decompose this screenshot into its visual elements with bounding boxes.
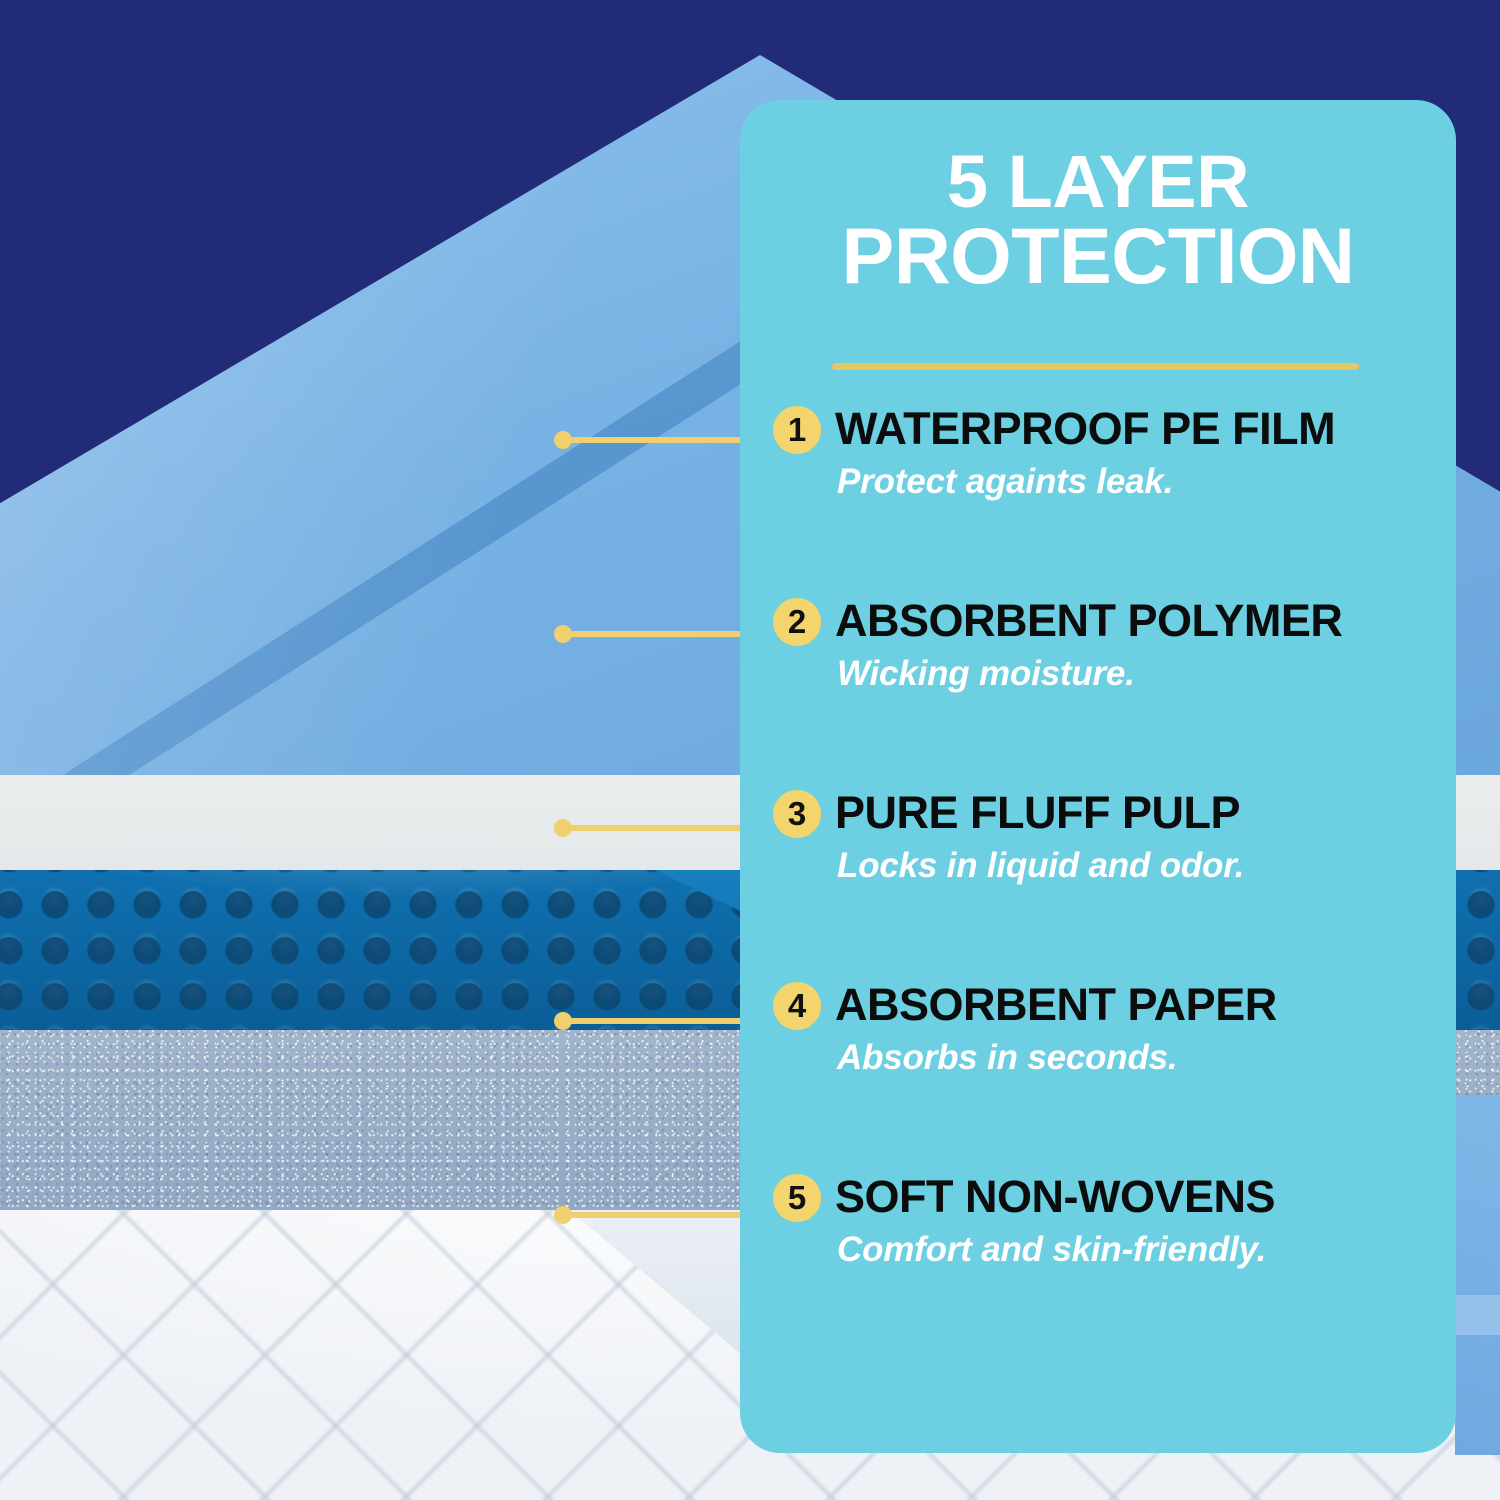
layer-list: 1WATERPROOF PE FILMProtect againts leak.…: [740, 400, 1456, 1360]
layer-number-badge: 2: [773, 598, 821, 646]
layer-name: PURE FLUFF PULP: [835, 784, 1240, 842]
layer-item: 4ABSORBENT PAPERAbsorbs in seconds.: [740, 976, 1456, 1168]
layer-item: 2ABSORBENT POLYMERWicking moisture.: [740, 592, 1456, 784]
title-divider: [832, 363, 1359, 370]
layer-description: Locks in liquid and odor.: [837, 843, 1244, 889]
layer-number-badge: 3: [773, 790, 821, 838]
layer-name: WATERPROOF PE FILM: [835, 400, 1335, 458]
info-card: 5 LAYER PROTECTION 1WATERPROOF PE FILMPr…: [740, 100, 1456, 1453]
layer-number-badge: 1: [773, 406, 821, 454]
photo-right-sliver-edge: [1455, 1295, 1500, 1335]
photo-right-sliver: [1455, 1095, 1500, 1455]
layer-description: Wicking moisture.: [837, 651, 1135, 697]
layer-description: Comfort and skin-friendly.: [837, 1227, 1266, 1273]
layer-description: Protect againts leak.: [837, 459, 1173, 505]
layer-number-badge: 5: [773, 1174, 821, 1222]
layer-name: ABSORBENT PAPER: [835, 976, 1277, 1034]
layer-item: 1WATERPROOF PE FILMProtect againts leak.: [740, 400, 1456, 592]
layer-description: Absorbs in seconds.: [837, 1035, 1177, 1081]
layer-name: ABSORBENT POLYMER: [835, 592, 1342, 650]
layer-item: 5SOFT NON-WOVENSComfort and skin-friendl…: [740, 1168, 1456, 1360]
infographic-canvas: 5 LAYER PROTECTION 1WATERPROOF PE FILMPr…: [0, 0, 1500, 1500]
layer-number-badge: 4: [773, 982, 821, 1030]
layer-item: 3PURE FLUFF PULPLocks in liquid and odor…: [740, 784, 1456, 976]
page-title: 5 LAYER PROTECTION: [740, 146, 1456, 294]
title-line-2: PROTECTION: [758, 218, 1438, 295]
layer-name: SOFT NON-WOVENS: [835, 1168, 1275, 1226]
